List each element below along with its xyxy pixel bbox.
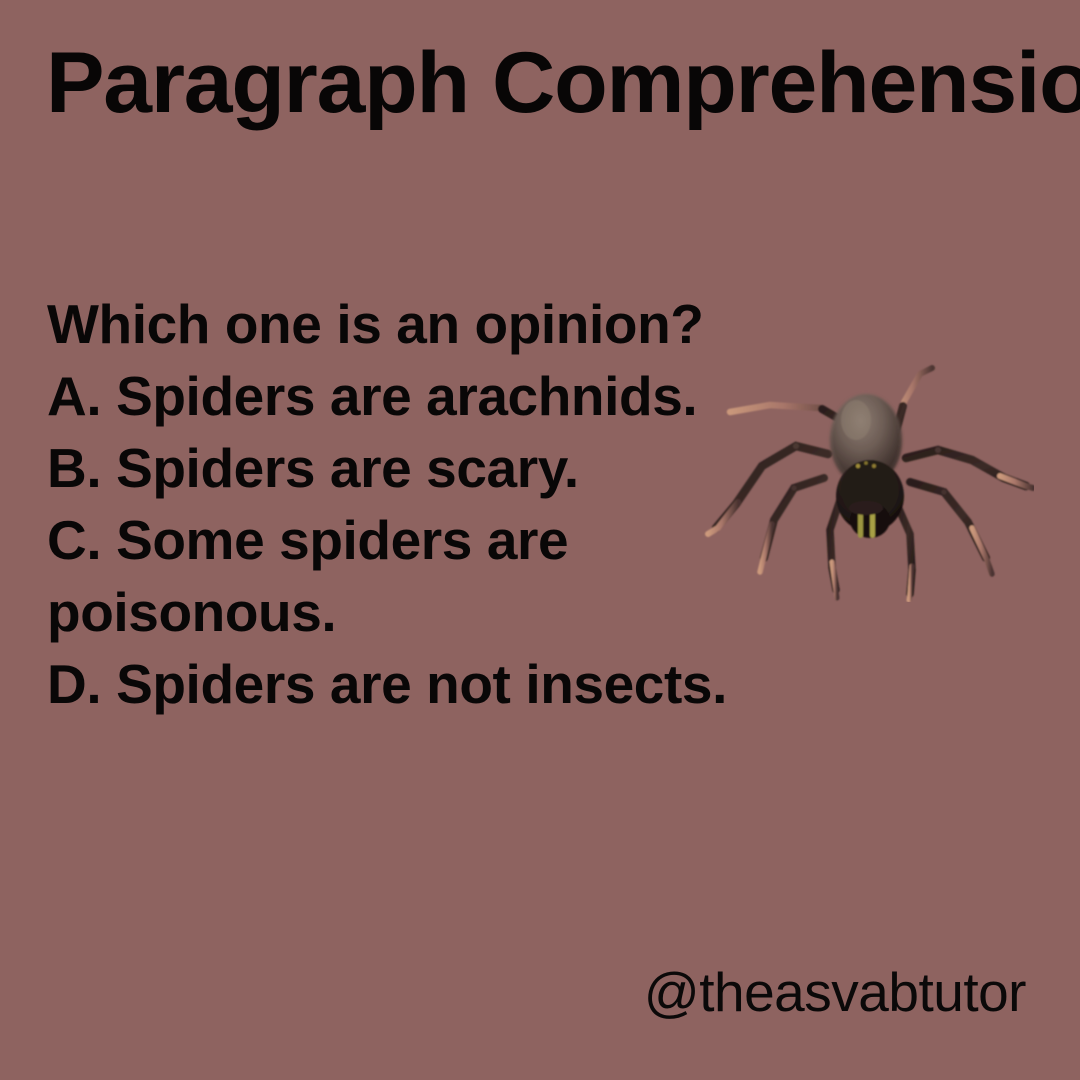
spider-photo: [700, 362, 1034, 602]
page-title: Paragraph Comprehension: [46, 36, 1080, 130]
post-canvas: Paragraph Comprehension Which one is an …: [0, 0, 1080, 1080]
question-block: Which one is an opinion? A. Spiders are …: [47, 288, 807, 720]
answer-option-d[interactable]: D. Spiders are not insects.: [47, 648, 807, 720]
answer-option-a[interactable]: A. Spiders are arachnids.: [47, 360, 807, 432]
answer-option-b[interactable]: B. Spiders are scary.: [47, 432, 807, 504]
answer-option-c-continued[interactable]: poisonous.: [47, 576, 807, 648]
question-prompt: Which one is an opinion?: [47, 288, 807, 360]
watermark-handle: @theasvabtutor: [644, 962, 1026, 1022]
answer-option-c[interactable]: C. Some spiders are: [47, 504, 807, 576]
